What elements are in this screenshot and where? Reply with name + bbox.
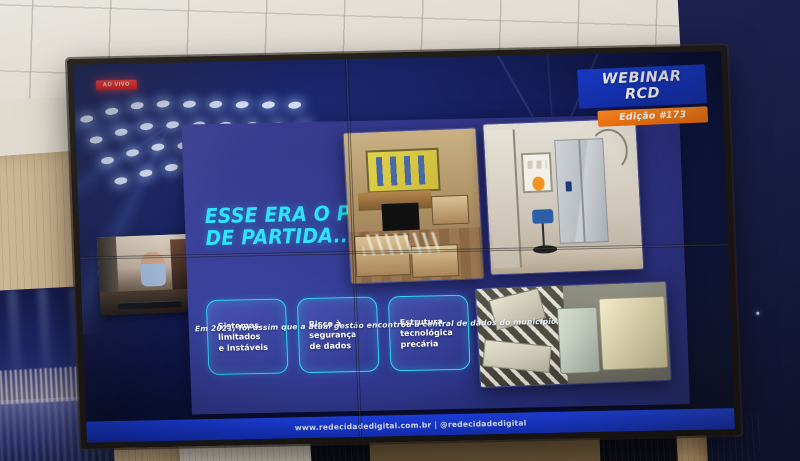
video-wall-display[interactable]: AO VIVO ESSE ERA O PONTO DE PARTIDA... bbox=[67, 45, 741, 449]
card-sistemas[interactable]: Sistemas limitados e instáveis bbox=[206, 298, 289, 375]
card-estrutura[interactable]: Estrutura tecnológica precária bbox=[388, 295, 471, 372]
photo2-stool-seat bbox=[532, 209, 554, 223]
photo2-cabinet-lock bbox=[565, 181, 572, 191]
card-risco[interactable]: Risco à segurança de dados bbox=[297, 297, 380, 374]
photo2-indicator-light bbox=[532, 176, 545, 190]
photo-debris bbox=[475, 281, 672, 388]
photo-messy-office bbox=[342, 127, 484, 284]
card-estrutura-line3: precária bbox=[400, 338, 453, 350]
photo-server-room bbox=[482, 118, 644, 276]
screen-surface[interactable]: AO VIVO ESSE ERA O PONTO DE PARTIDA... bbox=[73, 51, 735, 442]
footer-text: www.redecidadedigital.com.br | @redecida… bbox=[294, 418, 526, 432]
card-risco-line3: de dados bbox=[309, 340, 357, 352]
conference-room-scene: AO VIVO ESSE ERA O PONTO DE PARTIDA... bbox=[0, 0, 800, 461]
photo1-box bbox=[431, 195, 469, 225]
photo1-wall-board bbox=[366, 148, 441, 194]
presentation-slide: ESSE ERA O PONTO DE PARTIDA... bbox=[181, 114, 690, 414]
live-badge: AO VIVO bbox=[96, 80, 137, 91]
slide-card-group: Sistemas limitados e instáveis Risco à s… bbox=[206, 295, 471, 375]
wall-light-dot bbox=[756, 312, 759, 315]
brand-lockup: WEBINAR RCD Edição #173 bbox=[577, 64, 708, 127]
card-sistemas-line3: e instáveis bbox=[218, 342, 268, 354]
photo3-container bbox=[598, 296, 668, 371]
brand-title: WEBINAR RCD bbox=[577, 64, 707, 108]
